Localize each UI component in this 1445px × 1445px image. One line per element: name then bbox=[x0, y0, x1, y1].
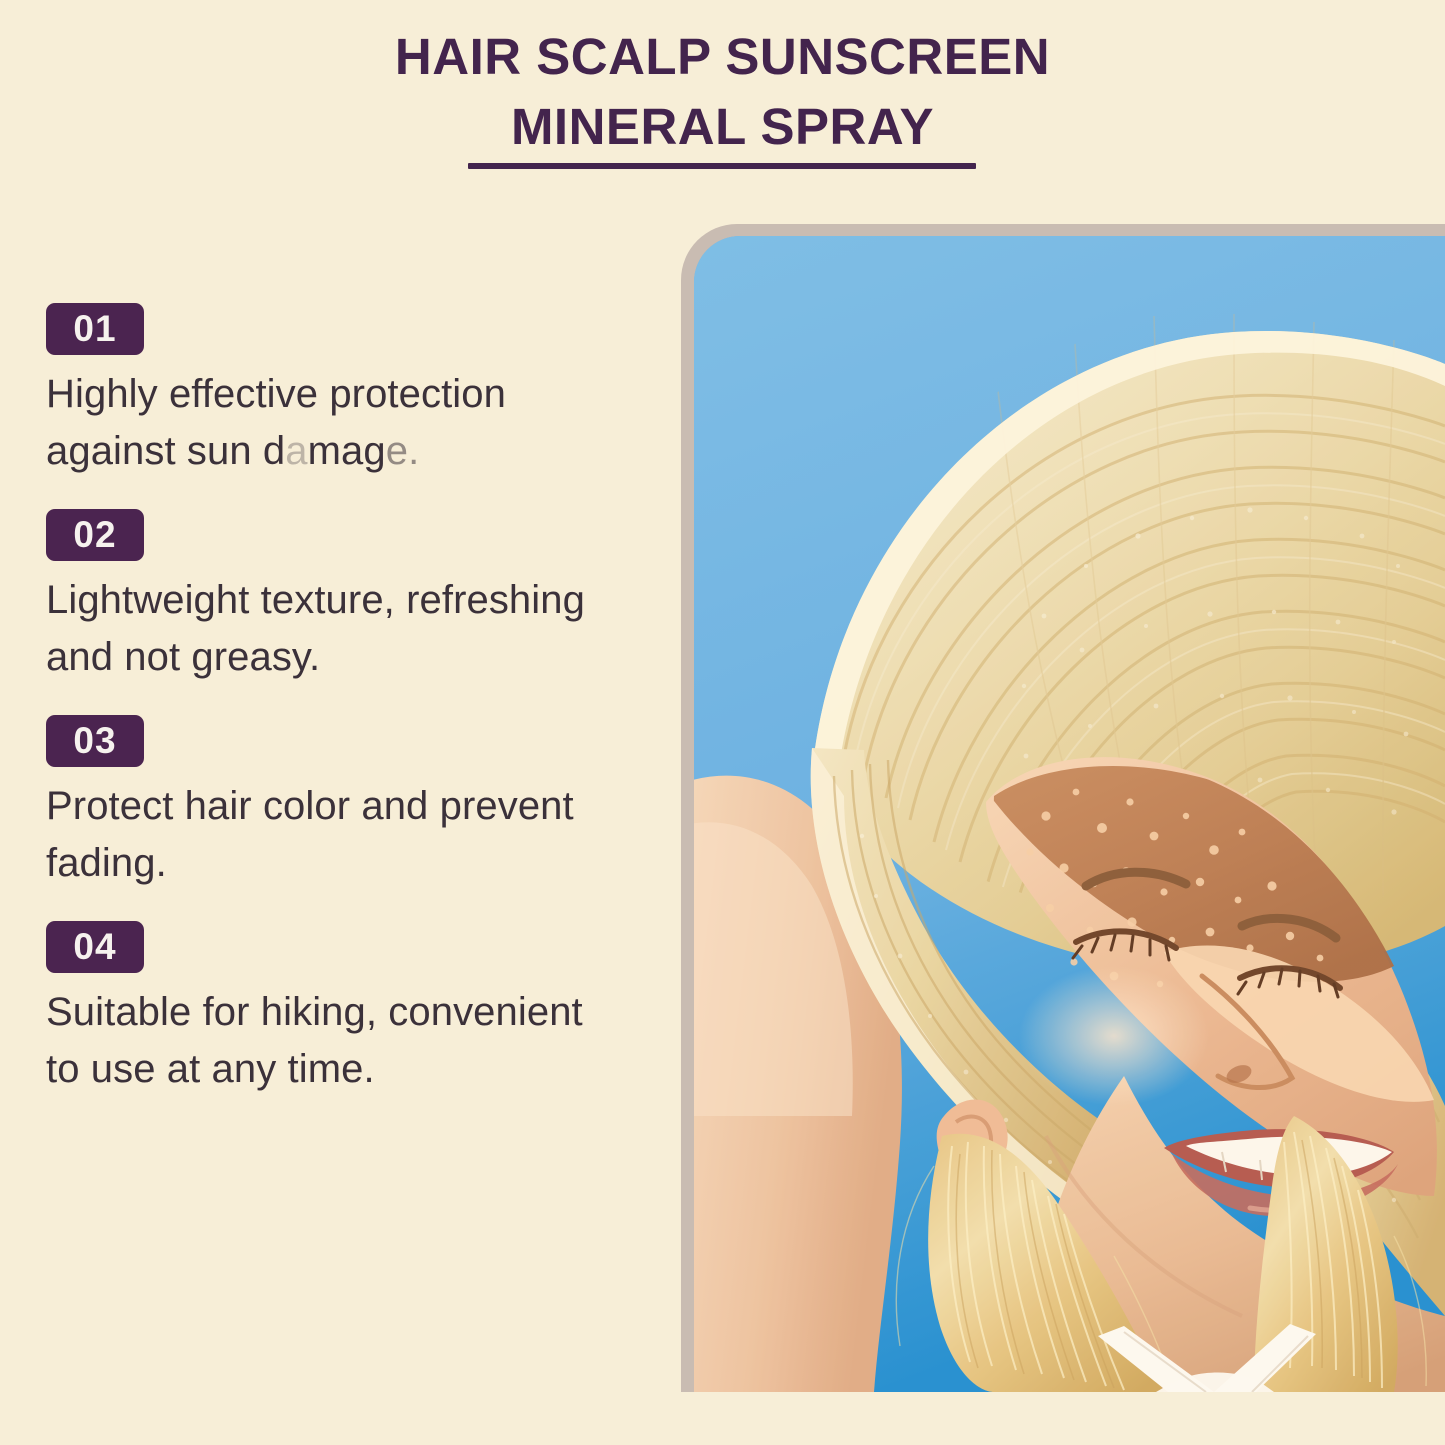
feature-text-line-1: Protect hair color and prevent bbox=[46, 784, 574, 828]
feature-text-segment-faded: a bbox=[285, 429, 307, 473]
feature-text-line-1: Suitable for hiking, convenient bbox=[46, 990, 583, 1034]
infographic-canvas: HAIR SCALP SUNSCREEN MINERAL SPRAY 01 Hi… bbox=[0, 0, 1445, 1445]
feature-text-line-1: Lightweight texture, refreshing bbox=[46, 578, 585, 622]
feature-number-badge: 04 bbox=[46, 921, 144, 973]
feature-text-line-2: to use at any time. bbox=[46, 1047, 375, 1091]
feature-number-badge: 02 bbox=[46, 509, 144, 561]
feature-item-01: 01 Highly effective protection against s… bbox=[46, 303, 656, 480]
feature-item-04: 04 Suitable for hiking, convenient to us… bbox=[46, 921, 656, 1098]
feature-description: Lightweight texture, refreshing and not … bbox=[46, 572, 646, 686]
feature-list: 01 Highly effective protection against s… bbox=[46, 303, 656, 1127]
feature-text-line-2: and not greasy. bbox=[46, 635, 320, 679]
feature-description: Suitable for hiking, convenient to use a… bbox=[46, 984, 646, 1098]
feature-text-segment-normal-2: mag bbox=[308, 429, 386, 473]
sunbathing-woman-straw-hat-photo bbox=[694, 236, 1445, 1392]
feature-item-02: 02 Lightweight texture, refreshing and n… bbox=[46, 509, 656, 686]
feature-text-segment-normal: against sun d bbox=[46, 429, 285, 473]
feature-text-line-1: Highly effective protection bbox=[46, 372, 506, 416]
feature-description: Highly effective protection against sun … bbox=[46, 366, 646, 480]
feature-description: Protect hair color and prevent fading. bbox=[46, 778, 646, 892]
page-title-line-1: HAIR SCALP SUNSCREEN bbox=[0, 22, 1445, 92]
header: HAIR SCALP SUNSCREEN MINERAL SPRAY bbox=[0, 22, 1445, 162]
title-divider bbox=[468, 163, 976, 169]
feature-text-line-2: fading. bbox=[46, 841, 167, 885]
feature-item-03: 03 Protect hair color and prevent fading… bbox=[46, 715, 656, 892]
feature-text-line-2: against sun damage. bbox=[46, 429, 419, 473]
feature-text-segment-faded-2: e. bbox=[386, 429, 420, 473]
page-title-line-2: MINERAL SPRAY bbox=[0, 92, 1445, 162]
feature-number-badge: 03 bbox=[46, 715, 144, 767]
feature-number-badge: 01 bbox=[46, 303, 144, 355]
